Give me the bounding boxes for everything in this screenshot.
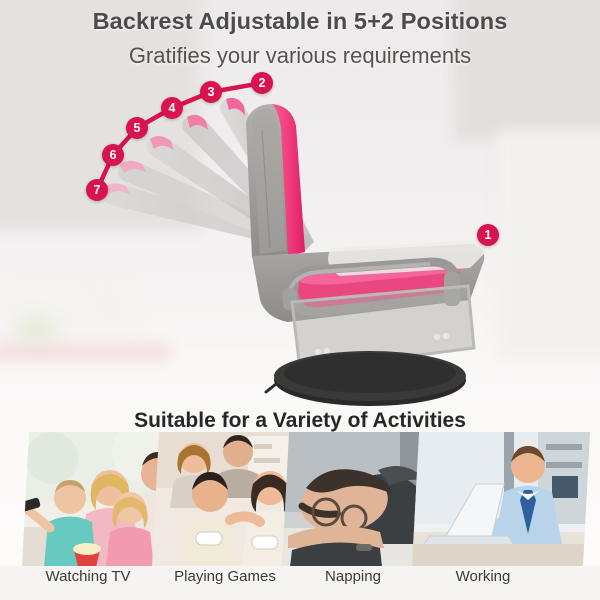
marker-label: 7: [94, 183, 101, 197]
marker-3[interactable]: 3: [200, 81, 222, 103]
marker-label: 4: [169, 101, 176, 115]
activities-title: Suitable for a Variety of Activities: [0, 409, 600, 433]
marker-5[interactable]: 5: [126, 117, 148, 139]
page-title: Backrest Adjustable in 5+2 Positions: [0, 8, 600, 35]
page-subtitle: Gratifies your various requirements: [0, 43, 600, 69]
caption-napping: Napping: [278, 568, 428, 585]
marker-2[interactable]: 2: [251, 72, 273, 94]
backrest-upright: [246, 104, 305, 258]
marker-1[interactable]: 1: [477, 224, 499, 246]
marker-4[interactable]: 4: [161, 97, 183, 119]
marker-label: 2: [259, 76, 266, 90]
marker-label: 3: [208, 85, 215, 99]
caption-working: Working: [408, 568, 558, 585]
marker-label: 5: [134, 121, 141, 135]
activity-thumbnail-row: [0, 432, 600, 567]
thumbnail-working[interactable]: [412, 432, 590, 567]
marker-label: 1: [485, 228, 492, 242]
marker-6[interactable]: 6: [102, 144, 124, 166]
product-infographic: 1 2 3 4 5 6 7 Backrest Adjustable in 5+2…: [0, 0, 600, 600]
caption-row: Watching TV Playing Games Napping Workin…: [0, 566, 600, 600]
marker-label: 6: [110, 148, 117, 162]
marker-7[interactable]: 7: [86, 179, 108, 201]
swivel-base: [266, 351, 466, 406]
